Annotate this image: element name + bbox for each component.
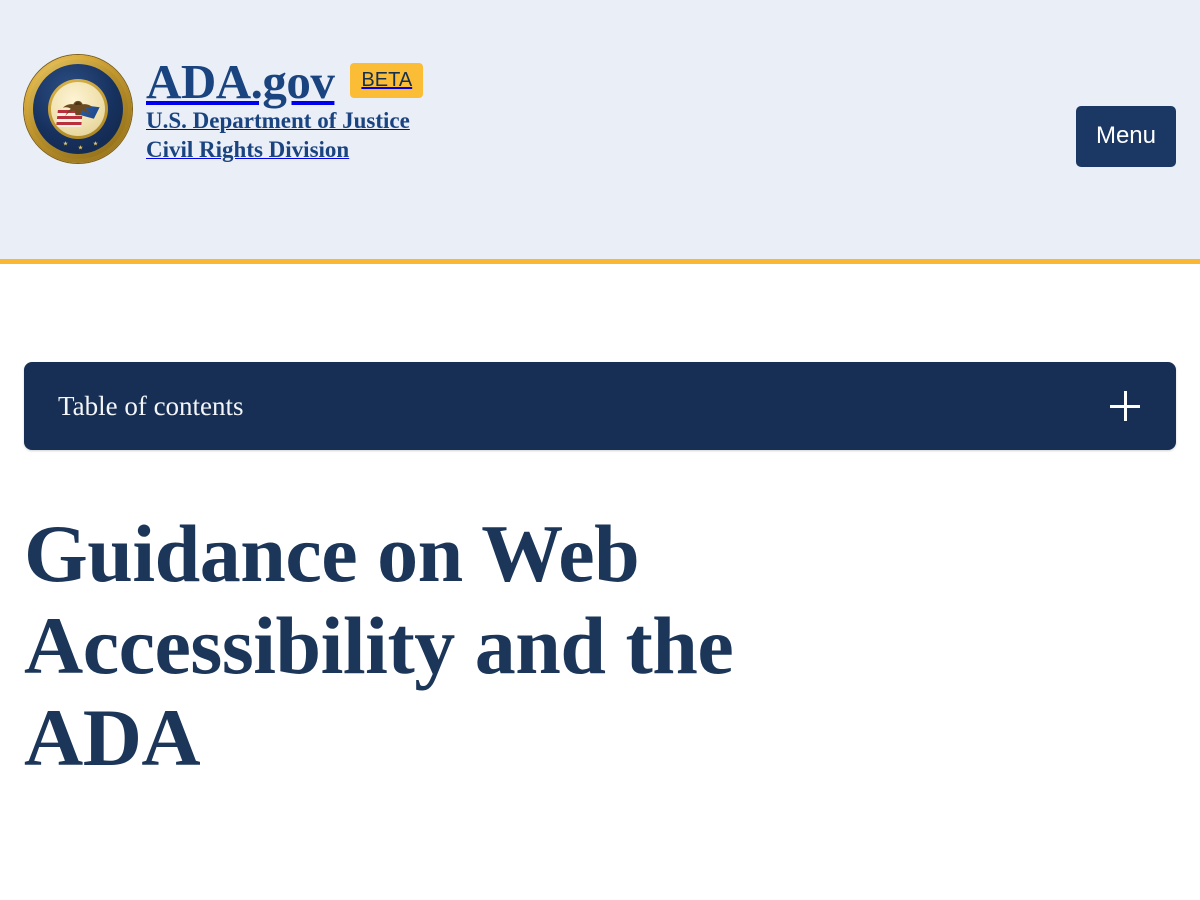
plus-icon[interactable]	[1108, 389, 1142, 423]
main-content: Table of contents Guidance on Web Access…	[0, 362, 1200, 783]
doj-seal-icon	[24, 55, 132, 163]
table-of-contents-toggle[interactable]: Table of contents	[24, 362, 1176, 450]
menu-button[interactable]: Menu	[1076, 106, 1176, 167]
agency-line-department: U.S. Department of Justice	[146, 108, 410, 133]
table-of-contents-label: Table of contents	[58, 393, 244, 420]
agency-line-division: Civil Rights Division	[146, 137, 349, 162]
seal-eagle-icon	[58, 98, 98, 123]
header-inner: ADA.gov BETA U.S. Department of Justice …	[0, 0, 1200, 259]
page-title: Guidance on Web Accessibility and the AD…	[24, 508, 784, 783]
brand-text-block: ADA.gov BETA U.S. Department of Justice …	[146, 55, 423, 165]
site-title: ADA.gov	[146, 57, 334, 106]
brand-home-link[interactable]: ADA.gov BETA U.S. Department of Justice …	[24, 55, 423, 165]
seal-center-field	[51, 82, 105, 136]
brand-title-row: ADA.gov BETA	[146, 57, 423, 106]
beta-badge: BETA	[350, 63, 423, 98]
site-header: ADA.gov BETA U.S. Department of Justice …	[0, 0, 1200, 264]
agency-name-block: U.S. Department of Justice Civil Rights …	[146, 115, 410, 161]
